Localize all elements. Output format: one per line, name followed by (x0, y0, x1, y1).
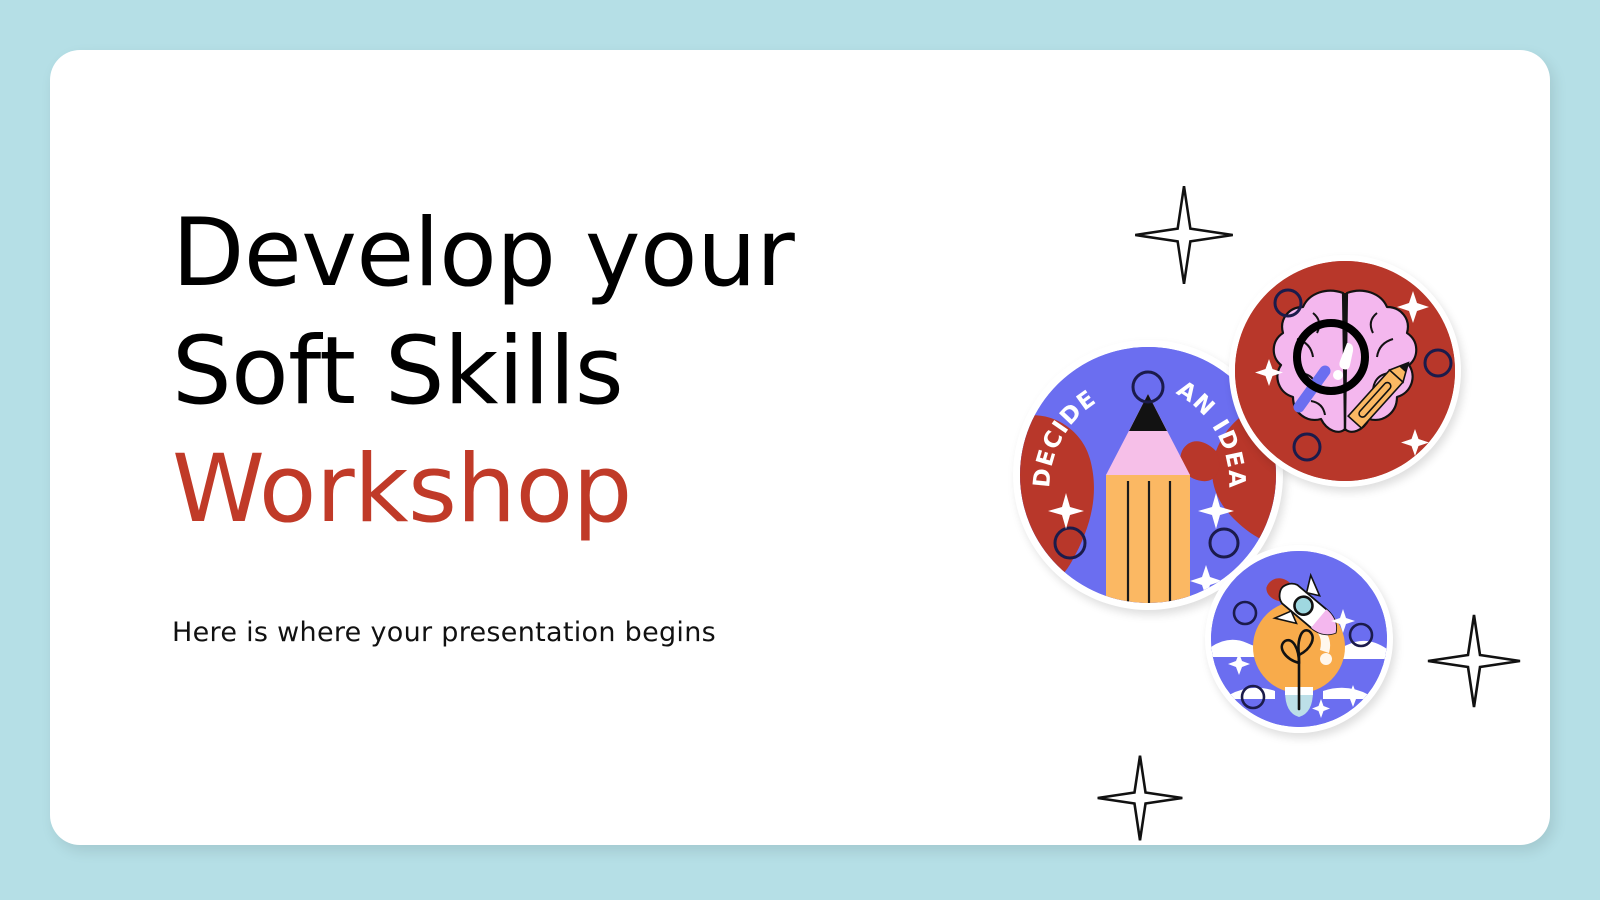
four-point-star-icon (1094, 752, 1186, 844)
four-point-star-icon (1424, 611, 1524, 711)
brain-analysis-badge-art (1235, 261, 1455, 481)
four-point-star-icon (1131, 182, 1237, 288)
title-line-3-accent: Workshop (172, 431, 892, 549)
slide-root: Develop your Soft Skills Workshop Here i… (0, 0, 1600, 900)
slide-card: Develop your Soft Skills Workshop Here i… (50, 50, 1550, 845)
title-line-1: Develop your (172, 195, 892, 313)
subtitle: Here is where your presentation begins (172, 617, 716, 648)
page-title: Develop your Soft Skills Workshop (172, 195, 892, 549)
title-line-2: Soft Skills (172, 313, 892, 431)
rocket-idea-badge (1205, 545, 1393, 733)
rocket-idea-badge-art (1211, 551, 1387, 727)
brain-analysis-badge (1229, 255, 1461, 487)
